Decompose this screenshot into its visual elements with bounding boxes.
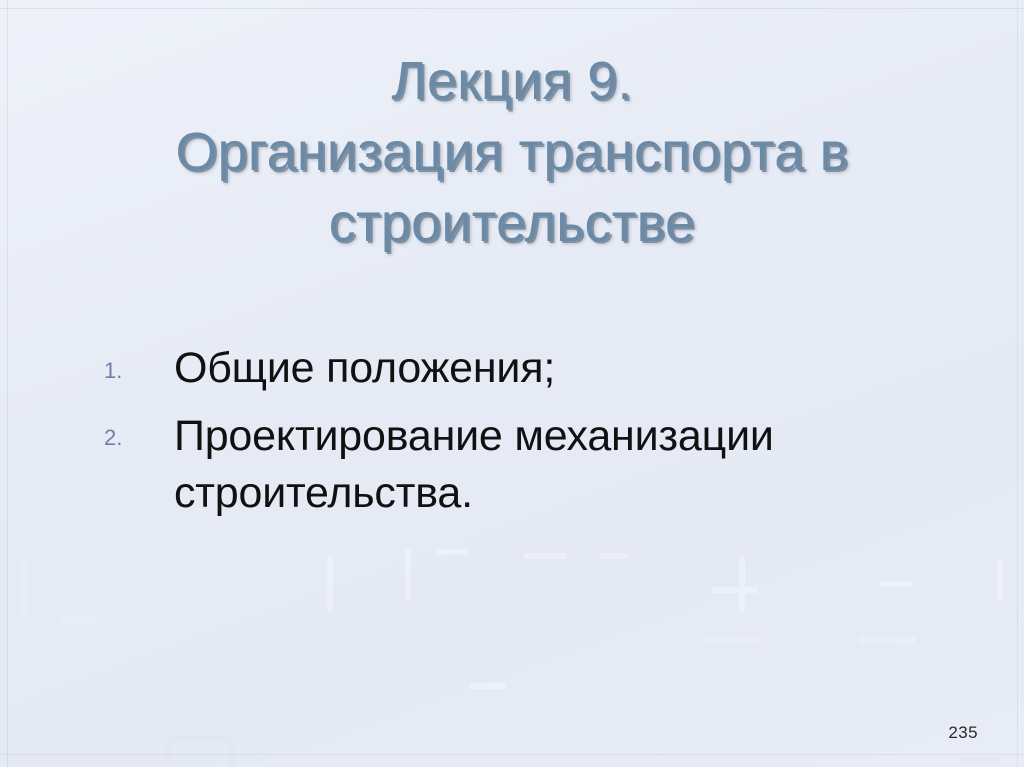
slide-title: Лекция 9. Организация транспорта в строи… [62,46,962,259]
list-item: 2. Проектирование механизации строительс… [96,408,956,522]
list-item-marker: 2. [96,408,174,468]
page-number: 235 [948,723,978,743]
slide-frame-bottom-line [0,754,1024,755]
list-item-marker: 1. [96,340,174,402]
list-item-label: Общие положения; [174,340,956,397]
slide-frame-left-line [7,0,8,767]
title-line-3: строительстве [62,188,962,259]
list-item-label: Проектирование механизации строительства… [174,408,956,522]
slide-content-list: 1. Общие положения; 2. Проектирование ме… [96,340,956,528]
slide-frame-right-line [1017,0,1018,767]
title-line-2: Организация транспорта в [62,117,962,188]
slide-frame-top-line [0,8,1024,9]
presentation-slide: Лекция 9. Организация транспорта в строи… [0,0,1024,767]
list-item: 1. Общие положения; [96,340,956,402]
title-line-1: Лекция 9. [62,46,962,117]
